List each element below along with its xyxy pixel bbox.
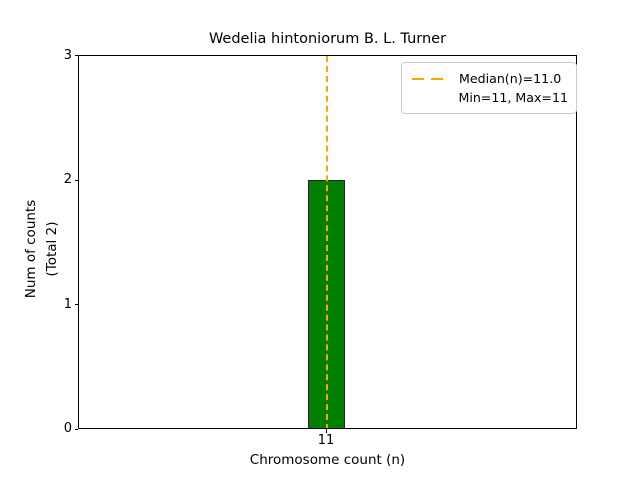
legend-label-median: Median(n)=11.0 — [459, 69, 561, 88]
ytick-mark-0 — [75, 429, 79, 430]
median-line — [326, 56, 328, 429]
dashed-line-icon — [410, 73, 450, 85]
x-axis-label: Chromosome count (n) — [78, 452, 577, 468]
ytick-label-0: 0 — [64, 422, 72, 435]
legend-row-median: Median(n)=11.0 — [410, 69, 568, 88]
ytick-label-3: 3 — [64, 49, 72, 62]
ytick-label-1: 1 — [64, 298, 72, 311]
legend-row-minmax: Min=11, Max=11 — [410, 88, 568, 107]
ytick-mark-2 — [75, 180, 79, 181]
legend-label-minmax: Min=11, Max=11 — [458, 88, 568, 107]
xtick-label-11: 11 — [306, 434, 346, 447]
xtick-mark-11 — [326, 429, 327, 433]
ytick-mark-3 — [75, 55, 79, 56]
ytick-mark-1 — [75, 304, 79, 305]
matplotlib-figure: Wedelia hintoniorum B. L. Turner 3 2 1 0… — [0, 0, 640, 480]
legend: Median(n)=11.0 Min=11, Max=11 — [401, 62, 577, 114]
y-axis-label-line2: (Total 2) — [44, 222, 60, 277]
y-axis-label-line1: Num of counts — [23, 200, 39, 299]
page-title: Wedelia hintoniorum B. L. Turner — [78, 30, 577, 48]
y-axis-label: Num of counts(Total 2) — [21, 62, 63, 436]
ytick-label-2: 2 — [64, 173, 72, 186]
